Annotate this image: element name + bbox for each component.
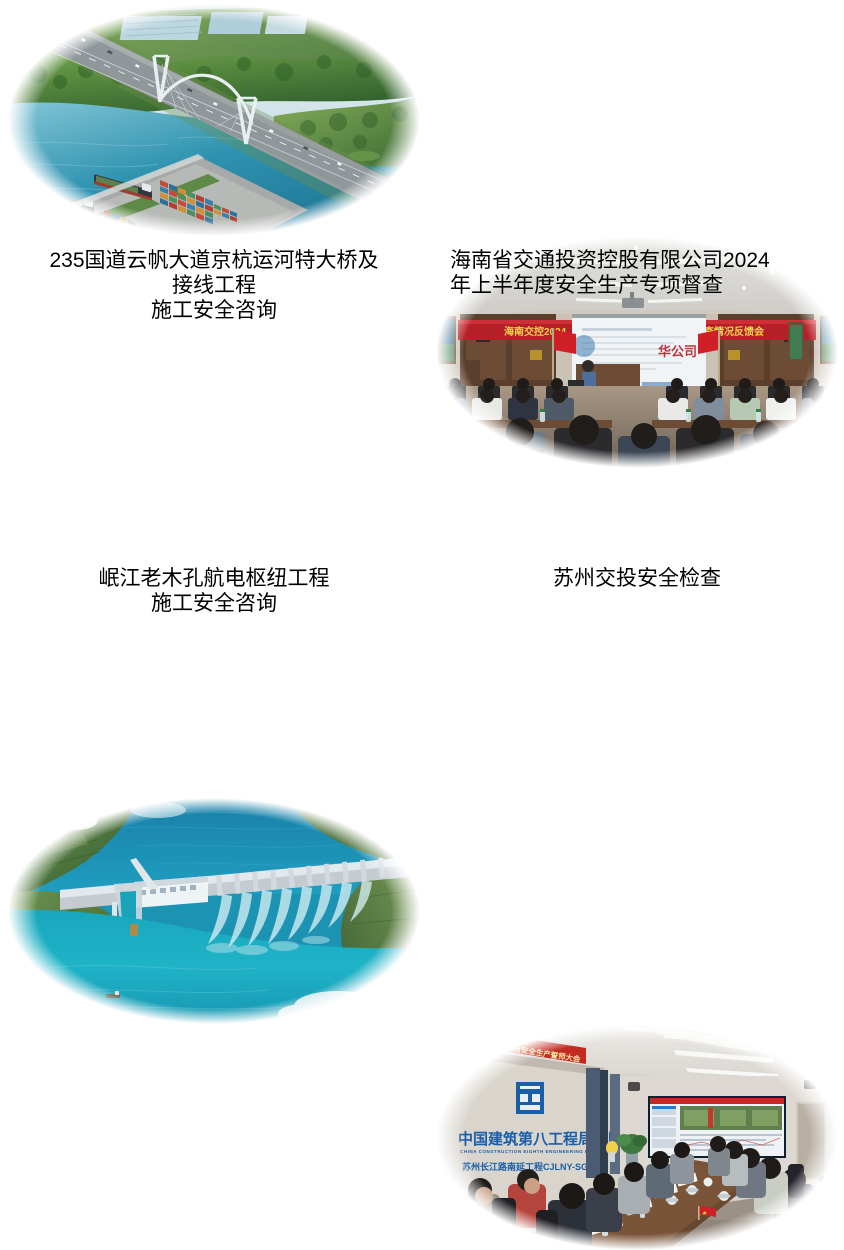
svg-text:华公司: 华公司	[658, 344, 697, 359]
suzhou-inspection-image: 苏州长江路南延项目安全生产誓师大会 中国建筑第八工程局有限公司 CHINA CO…	[436, 1024, 838, 1250]
photo-grid: 235国道云帆大道京杭运河特大桥及 接线工程 施工安全咨询	[0, 0, 844, 627]
suzhou-inspection-caption: 苏州交投安全检查	[436, 566, 838, 591]
bridge-project-caption: 235国道云帆大道京杭运河特大桥及 接线工程 施工安全咨询	[8, 248, 420, 323]
hainan-inspection-caption: 海南省交通投资控股有限公司2024 年上半年度安全生产专项督查	[450, 248, 842, 298]
bridge-project-image	[8, 4, 420, 236]
minjiang-hub-image	[8, 798, 420, 1024]
minjiang-hub-caption: 岷江老木孔航电枢纽工程 施工安全咨询	[8, 566, 420, 616]
svg-text:苏州长江路南延工程CJLNY-SG02标: 苏州长江路南延工程CJLNY-SG02标	[462, 1161, 607, 1172]
bridge-rendering-photo	[8, 4, 420, 236]
suzhou-meeting-photo: 苏州长江路南延项目安全生产誓师大会 中国建筑第八工程局有限公司 CHINA CO…	[436, 1024, 838, 1250]
dam-rendering-photo	[8, 798, 420, 1024]
